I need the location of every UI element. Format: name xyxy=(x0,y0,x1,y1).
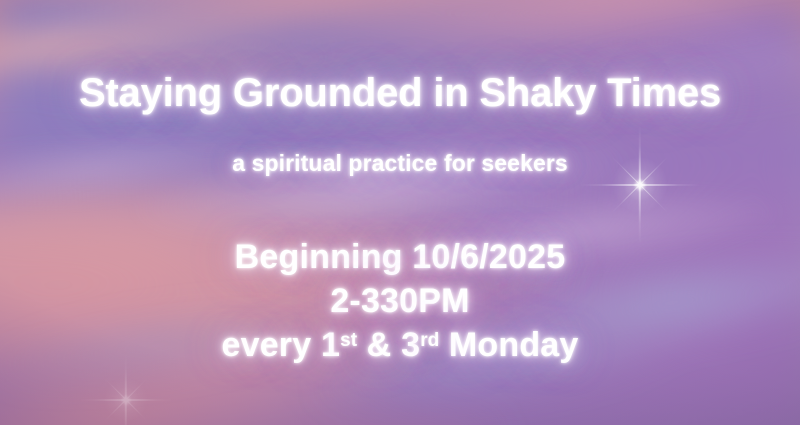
recurrence-prefix: every 1 xyxy=(221,326,340,364)
poster-subheadline: a spiritual practice for seekers xyxy=(0,150,800,176)
poster-text-layer: Staying Grounded in Shaky Times a spirit… xyxy=(0,0,800,425)
sunset-sky-event-poster: Staying Grounded in Shaky Times a spirit… xyxy=(0,0,800,425)
recurrence-ordinal-third: rd xyxy=(420,330,439,351)
recurrence-weekday: Monday xyxy=(439,326,578,364)
poster-recurrence: every 1st & 3rd Monday xyxy=(0,324,800,368)
recurrence-ordinal-first: st xyxy=(340,330,357,351)
poster-start-date: Beginning 10/6/2025 xyxy=(0,236,800,280)
poster-time-range: 2-330PM xyxy=(0,280,800,324)
recurrence-separator: & 3 xyxy=(357,326,420,364)
poster-details-block: Beginning 10/6/2025 2-330PM every 1st & … xyxy=(0,236,800,368)
poster-headline: Staying Grounded in Shaky Times xyxy=(0,72,800,115)
